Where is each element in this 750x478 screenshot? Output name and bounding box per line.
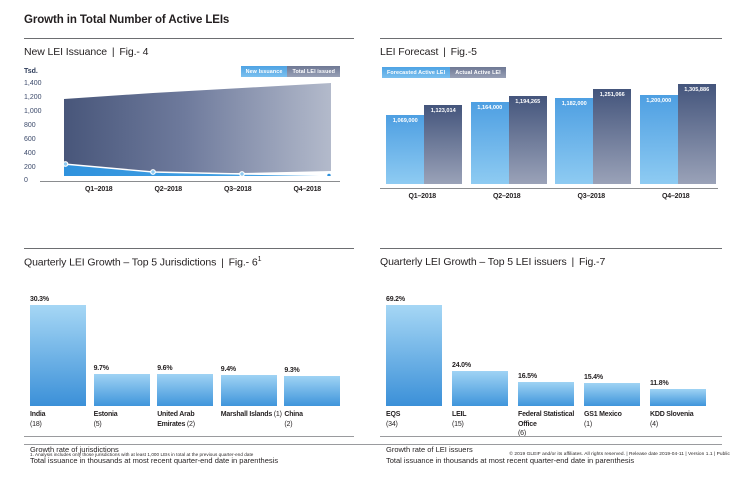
fig5-group-q2: 1,164,000 1,194,265	[467, 84, 552, 184]
fig6-name-estonia: Estonia	[94, 411, 118, 418]
fig5-plot-area: 1,069,000 1,123,014 1,164,000 1,194,265	[382, 84, 720, 184]
fig5-group-q4: 1,200,000 1,305,886	[636, 84, 721, 184]
fig6-category-labels: India (18) Estonia (5) United Arab Emira…	[30, 410, 348, 429]
fig6-bar-uae[interactable]	[157, 374, 213, 406]
fig7-value-federal-statistical-office: 16.5%	[518, 373, 537, 380]
fig6-value-china: 9.3%	[284, 367, 299, 374]
fig4-plot-area	[64, 82, 332, 176]
fig6-column-estonia: 9.7%	[94, 296, 158, 406]
fig6-label-china: China (2)	[284, 410, 348, 429]
fig6-name-marshall-islands: Marshall Islands	[221, 411, 272, 418]
fig5-group-q1: 1,069,000 1,123,014	[382, 84, 467, 184]
fig7-notes-divider	[380, 436, 722, 437]
footer-divider	[24, 444, 722, 445]
fig4-xlabel-q3: Q3–2018	[203, 186, 273, 193]
fig7-column-eqs: 69.2%	[386, 296, 452, 406]
fig7-name-eqs: EQS	[386, 411, 400, 418]
fig4-ytick-600: 600	[24, 136, 58, 143]
fig7-count-gs1-mexico: (1)	[584, 421, 592, 428]
fig5-value-forecast-q3: 1,182,000	[562, 101, 587, 107]
fig6-bar-india[interactable]	[30, 305, 86, 406]
fig4-ytick-1200: 1,200	[24, 94, 58, 101]
legend-item-forecasted-active-lei: Forecasted Active LEI	[382, 67, 450, 78]
fig4-ytick-200: 200	[24, 164, 58, 171]
fig7-category-labels: EQS (34) LEIL (15) Federal Statistical O…	[386, 410, 716, 439]
fig6-count-china: (2)	[284, 421, 292, 428]
fig5-x-axis	[380, 188, 718, 189]
fig7-name-kdd-slovenia: KDD Slovenia	[650, 411, 694, 418]
fig7-count-leil: (15)	[452, 421, 464, 428]
fig6-bar-china[interactable]	[284, 376, 340, 406]
fig7-figure-label: Fig.-7	[579, 256, 605, 268]
fig5-xlabel-q3: Q3–2018	[549, 193, 634, 200]
fig5-bar-forecast-q1[interactable]: 1,069,000	[386, 115, 424, 184]
fig5-figure-label: Fig.-5	[451, 46, 477, 58]
fig5-bar-actual-q3[interactable]: 1,251,066	[593, 89, 631, 184]
fig7-title-text: Quarterly LEI Growth – Top 5 LEI issuers	[380, 256, 567, 268]
fig6-label-marshall-islands: Marshall Islands (1)	[221, 410, 285, 429]
copyright-notice: © 2019 GLEIF and/or its affiliates. All …	[509, 452, 730, 457]
fig7-bar-federal-statistical-office[interactable]	[518, 382, 574, 406]
fig6-count-india: (18)	[30, 421, 42, 428]
fig4-axis-unit: Tsd.	[24, 68, 38, 75]
fig4-ytick-1400: 1,400	[24, 80, 58, 87]
fig7-name-leil: LEIL	[452, 411, 466, 418]
fig4-point-q2	[151, 170, 156, 175]
fig6-notes-divider	[24, 436, 354, 437]
page-title: Growth in Total Number of Active LEIs	[24, 14, 229, 26]
fig5-value-forecast-q4: 1,200,000	[646, 98, 671, 104]
fig5-group-q3: 1,182,000 1,251,066	[551, 84, 636, 184]
fig6-count-uae: (2)	[187, 421, 195, 428]
fig7-value-gs1-mexico: 15.4%	[584, 374, 603, 381]
fig6-plot-area: 30.3% 9.7% 9.6% 9.4% 9.3%	[30, 296, 348, 406]
fig6-column-india: 30.3%	[30, 296, 94, 406]
fig6-footnote-marker: 1	[258, 256, 262, 263]
panel-divider	[24, 248, 354, 249]
fig7-label-leil: LEIL (15)	[452, 410, 518, 439]
fig4-xlabel-q2: Q2–2018	[134, 186, 204, 193]
fig7-value-eqs: 69.2%	[386, 296, 405, 303]
fig7-label-kdd-slovenia: KDD Slovenia (4)	[650, 410, 716, 439]
fig7-label-federal-statistical-office: Federal Statistical Office (6)	[518, 410, 584, 439]
legend-item-actual-active-lei: Actual Active LEI	[450, 67, 506, 78]
fig7-name-gs1-mexico: GS1 Mexico	[584, 411, 622, 418]
panel-divider	[380, 248, 722, 249]
fig4-x-axis	[40, 181, 340, 182]
fig5-xlabel-q4: Q4–2018	[634, 193, 719, 200]
fig4-point-q1	[64, 162, 68, 167]
page-footnote: 1. Analysis includes only those jurisdic…	[30, 452, 253, 457]
fig6-title-separator: |	[219, 257, 226, 269]
fig5-bar-actual-q4[interactable]: 1,305,886	[678, 84, 716, 184]
fig5-value-forecast-q1: 1,069,000	[393, 118, 418, 124]
fig4-xlabel-q4: Q4–2018	[273, 186, 343, 193]
fig4-ytick-800: 800	[24, 122, 58, 129]
legend-item-total-lei-issued: Total LEI issued	[287, 66, 340, 77]
fig7-bar-leil[interactable]	[452, 371, 508, 406]
fig7-name-federal-statistical-office: Federal Statistical Office	[518, 411, 574, 428]
fig6-count-estonia: (5)	[94, 421, 102, 428]
fig6-value-india: 30.3%	[30, 296, 49, 303]
fig4-title: New LEI Issuance | Fig.- 4	[24, 46, 354, 58]
fig5-xlabel-q2: Q2–2018	[465, 193, 550, 200]
fig5-x-labels: Q1–2018 Q2–2018 Q3–2018 Q4–2018	[380, 193, 718, 200]
fig6-column-uae: 9.6%	[157, 296, 221, 406]
fig6-value-uae: 9.6%	[157, 365, 172, 372]
fig7-bar-eqs[interactable]	[386, 305, 442, 406]
fig5-value-actual-q2: 1,194,265	[515, 99, 540, 105]
fig7-count-kdd-slovenia: (4)	[650, 421, 658, 428]
fig6-name-india: India	[30, 411, 45, 418]
fig4-area-total	[64, 83, 331, 174]
fig5-value-forecast-q2: 1,164,000	[477, 105, 502, 111]
fig6-bar-estonia[interactable]	[94, 374, 150, 406]
fig4-point-q4	[327, 173, 332, 176]
fig5-title: LEI Forecast | Fig.-5	[380, 46, 722, 58]
fig5-bar-forecast-q3[interactable]: 1,182,000	[555, 98, 593, 184]
fig7-column-federal-statistical-office: 16.5%	[518, 296, 584, 406]
fig4-xlabel-q1: Q1–2018	[64, 186, 134, 193]
fig7-plot-area: 69.2% 24.0% 16.5% 15.4% 11.8%	[386, 296, 716, 406]
panel-new-lei-issuance: New LEI Issuance | Fig.- 4 Tsd. New Issu…	[24, 38, 354, 228]
fig7-value-leil: 24.0%	[452, 362, 471, 369]
fig6-value-estonia: 9.7%	[94, 365, 109, 372]
fig6-title-text: Quarterly LEI Growth – Top 5 Jurisdictio…	[24, 257, 216, 269]
fig4-title-separator: |	[110, 46, 117, 58]
fig4-point-q3	[240, 172, 245, 176]
fig7-column-gs1-mexico: 15.4%	[584, 296, 650, 406]
fig5-bar-forecast-q2[interactable]: 1,164,000	[471, 102, 509, 184]
fig5-xlabel-q1: Q1–2018	[380, 193, 465, 200]
fig6-figure-label: Fig.- 6	[229, 257, 258, 269]
fig7-count-eqs: (34)	[386, 421, 398, 428]
fig7-bar-kdd-slovenia[interactable]	[650, 389, 706, 406]
fig4-title-text: New LEI Issuance	[24, 46, 107, 58]
panel-top-lei-issuers: Quarterly LEI Growth – Top 5 LEI issuers…	[380, 248, 722, 468]
fig7-chart: 69.2% 24.0% 16.5% 15.4% 11.8%	[380, 276, 722, 406]
fig5-value-actual-q3: 1,251,066	[600, 92, 625, 98]
fig6-column-marshall-islands: 9.4%	[221, 296, 285, 406]
fig5-bar-actual-q1[interactable]: 1,123,014	[424, 105, 462, 184]
legend-item-new-issuance: New Issuance	[241, 66, 288, 77]
fig6-chart: 30.3% 9.7% 9.6% 9.4% 9.3%	[24, 276, 354, 406]
panel-divider	[380, 38, 722, 39]
fig6-bar-marshall-islands[interactable]	[221, 375, 277, 406]
fig7-title: Quarterly LEI Growth – Top 5 LEI issuers…	[380, 256, 722, 268]
fig6-count-marshall-islands: (1)	[274, 411, 282, 418]
panel-lei-forecast: LEI Forecast | Fig.-5 Forecasted Active …	[380, 38, 722, 228]
report-page: Growth in Total Number of Active LEIs Ne…	[0, 0, 750, 478]
fig4-legend: New Issuance Total LEI issued	[241, 66, 340, 77]
fig7-column-kdd-slovenia: 11.8%	[650, 296, 716, 406]
fig5-bar-actual-q2[interactable]: 1,194,265	[509, 96, 547, 184]
fig7-bar-gs1-mexico[interactable]	[584, 383, 640, 406]
fig5-title-text: LEI Forecast	[380, 46, 438, 58]
fig4-ytick-1000: 1,000	[24, 108, 58, 115]
fig4-ytick-400: 400	[24, 150, 58, 157]
fig4-chart: Tsd. New Issuance Total LEI issued 1,400…	[24, 68, 354, 218]
fig4-figure-label: Fig.- 4	[119, 46, 148, 58]
fig7-label-eqs: EQS (34)	[386, 410, 452, 439]
panel-divider	[24, 38, 354, 39]
fig5-value-actual-q4: 1,305,886	[684, 87, 709, 93]
panel-top-jurisdictions: Quarterly LEI Growth – Top 5 Jurisdictio…	[24, 248, 354, 468]
fig7-label-gs1-mexico: GS1 Mexico (1)	[584, 410, 650, 439]
fig6-name-china: China	[284, 411, 302, 418]
fig5-value-actual-q1: 1,123,014	[431, 108, 456, 114]
fig6-title: Quarterly LEI Growth – Top 5 Jurisdictio…	[24, 256, 354, 269]
fig7-column-leil: 24.0%	[452, 296, 518, 406]
fig6-label-estonia: Estonia (5)	[94, 410, 158, 429]
fig6-label-india: India (18)	[30, 410, 94, 429]
fig5-bar-forecast-q4[interactable]: 1,200,000	[640, 95, 678, 184]
fig6-label-uae: United Arab Emirates (2)	[157, 410, 221, 429]
fig5-chart: Forecasted Active LEI Actual Active LEI …	[380, 68, 722, 220]
fig4-x-labels: Q1–2018 Q2–2018 Q3–2018 Q4–2018	[64, 186, 342, 193]
fig6-column-china: 9.3%	[284, 296, 348, 406]
fig7-value-kdd-slovenia: 11.8%	[650, 380, 668, 387]
fig7-title-separator: |	[569, 256, 576, 268]
fig5-legend: Forecasted Active LEI Actual Active LEI	[382, 67, 506, 78]
fig5-title-separator: |	[441, 46, 448, 58]
fig6-value-marshall-islands: 9.4%	[221, 366, 236, 373]
